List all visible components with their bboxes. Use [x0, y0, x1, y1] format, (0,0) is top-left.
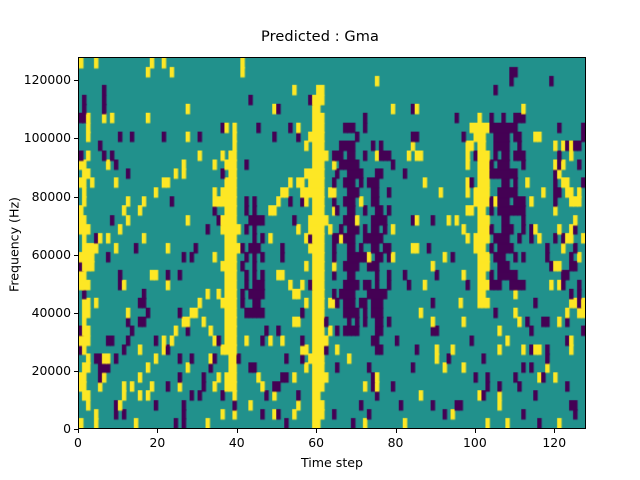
x-tick-label: 60	[286, 435, 346, 450]
heatmap-canvas	[79, 58, 585, 428]
x-tick-mark	[554, 429, 555, 433]
x-tick-mark	[316, 429, 317, 433]
x-tick-mark	[78, 429, 79, 433]
y-axis-label: Frequency (Hz)	[7, 59, 22, 431]
matplotlib-figure: Predicted : Gma 020000400006000080000100…	[0, 0, 640, 480]
x-tick-label: 120	[524, 435, 584, 450]
x-tick-label: 20	[127, 435, 187, 450]
heatmap-axes	[78, 57, 586, 429]
y-tick-mark	[74, 80, 78, 81]
x-tick-mark	[237, 429, 238, 433]
x-tick-mark	[157, 429, 158, 433]
y-tick-mark	[74, 371, 78, 372]
y-tick-mark	[74, 313, 78, 314]
x-axis-label: Time step	[78, 455, 586, 470]
y-tick-mark	[74, 197, 78, 198]
x-tick-label: 80	[366, 435, 426, 450]
x-tick-mark	[396, 429, 397, 433]
chart-title: Predicted : Gma	[0, 29, 640, 45]
x-tick-label: 40	[207, 435, 267, 450]
y-tick-mark	[74, 255, 78, 256]
x-tick-mark	[475, 429, 476, 433]
x-tick-label: 0	[48, 435, 108, 450]
y-tick-mark	[74, 138, 78, 139]
x-tick-label: 100	[445, 435, 505, 450]
